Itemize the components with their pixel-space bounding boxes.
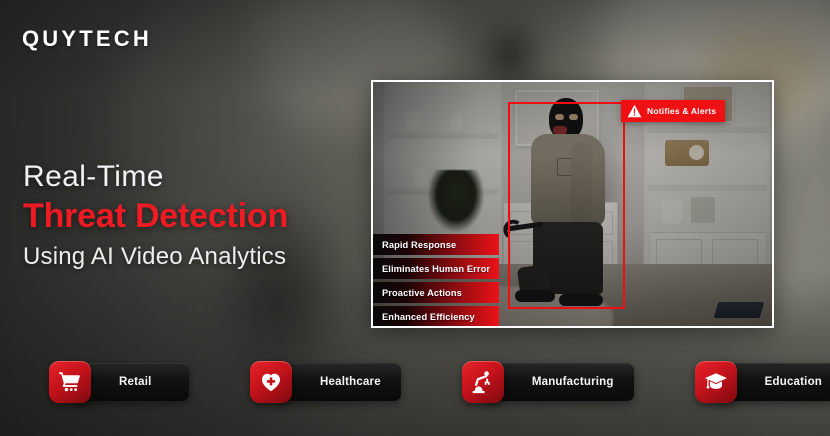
- feature-label-text: Enhanced Efficiency: [382, 312, 475, 322]
- brand-logo: QUYTECH: [22, 28, 152, 50]
- warning-triangle-icon: [627, 104, 642, 118]
- status-badge[interactable]: Notifies & Alerts: [621, 100, 725, 122]
- industry-chip-manufacturing[interactable]: Manufacturing: [462, 360, 634, 404]
- feature-label[interactable]: Proactive Actions: [373, 282, 499, 303]
- industry-chip-list: Retail Healthcare: [49, 360, 830, 404]
- feature-label-list: Rapid Response Eliminates Human Error Pr…: [373, 234, 499, 328]
- shopping-cart-icon: [49, 361, 91, 403]
- industry-chip-label: Retail: [119, 376, 152, 388]
- alert-label: Notifies & Alerts: [647, 106, 716, 116]
- feature-label-text: Eliminates Human Error: [382, 264, 490, 274]
- heart-cross-icon: [250, 361, 292, 403]
- poster-stage: QUYTECH Real-Time Threat Detection Using…: [0, 0, 830, 436]
- page-title: Real-Time Threat Detection Using AI Vide…: [23, 160, 368, 272]
- headline-line-3: Using AI Video Analytics: [23, 243, 368, 272]
- robot-arm-icon: [462, 361, 504, 403]
- industry-chip-retail[interactable]: Retail: [49, 360, 189, 404]
- headline-line-1: Real-Time: [23, 160, 368, 194]
- industry-chip-healthcare[interactable]: Healthcare: [250, 360, 401, 404]
- headline-line-2: Threat Detection: [23, 196, 368, 237]
- industry-chip-label: Manufacturing: [532, 376, 614, 388]
- industry-chip-label: Education: [765, 376, 822, 388]
- cctv-video-frame: Notifies & Alerts Rapid Response Elimina…: [371, 80, 774, 328]
- feature-label-text: Rapid Response: [382, 240, 456, 250]
- feature-label[interactable]: Enhanced Efficiency: [373, 306, 499, 327]
- industry-chip-body[interactable]: Manufacturing: [484, 363, 634, 401]
- feature-label-text: Proactive Actions: [382, 288, 462, 298]
- industry-chip-label: Healthcare: [320, 376, 381, 388]
- feature-label[interactable]: Eliminates Human Error: [373, 258, 499, 279]
- industry-chip-education[interactable]: Education: [695, 360, 830, 404]
- graduation-cap-icon: [695, 361, 737, 403]
- person-detection-box: [508, 102, 625, 309]
- feature-label[interactable]: Rapid Response: [373, 234, 499, 255]
